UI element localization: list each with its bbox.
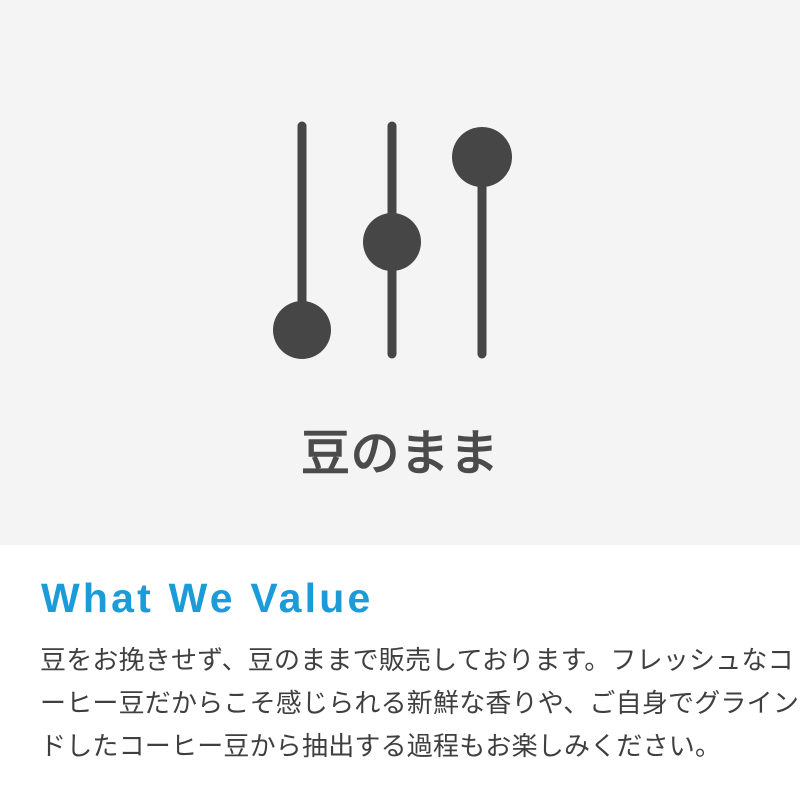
section-heading-what-we-value: What We Value	[41, 574, 373, 622]
slider-knob-2	[363, 213, 421, 271]
page-root: 豆のまま What We Value 豆をお挽きせず、豆のままで販売しております…	[0, 0, 800, 800]
feature-icon-container	[0, 0, 800, 420]
slider-control-3	[452, 127, 512, 354]
sliders-icon	[250, 100, 550, 380]
slider-knob-3	[452, 127, 512, 187]
section-paragraph: 豆をお挽きせず、豆のままで販売しております。フレッシュなコ ーヒー豆だからこそ感…	[40, 639, 766, 768]
value-section: What We Value 豆をお挽きせず、豆のままで販売しております。フレッシ…	[0, 545, 800, 800]
paragraph-line-3: ドしたコーヒー豆から抽出する過程もお楽しみください。	[40, 725, 766, 768]
paragraph-line-2: ーヒー豆だからこそ感じられる新鮮な香りや、ご自身でグライン	[40, 682, 766, 725]
paragraph-line-1: 豆をお挽きせず、豆のままで販売しております。フレッシュなコ	[40, 639, 766, 682]
feature-hero-panel: 豆のまま	[0, 0, 800, 545]
slider-control-1	[273, 126, 331, 359]
slider-control-2	[363, 126, 421, 354]
slider-knob-1	[273, 301, 331, 359]
hero-title: 豆のまま	[0, 424, 800, 484]
